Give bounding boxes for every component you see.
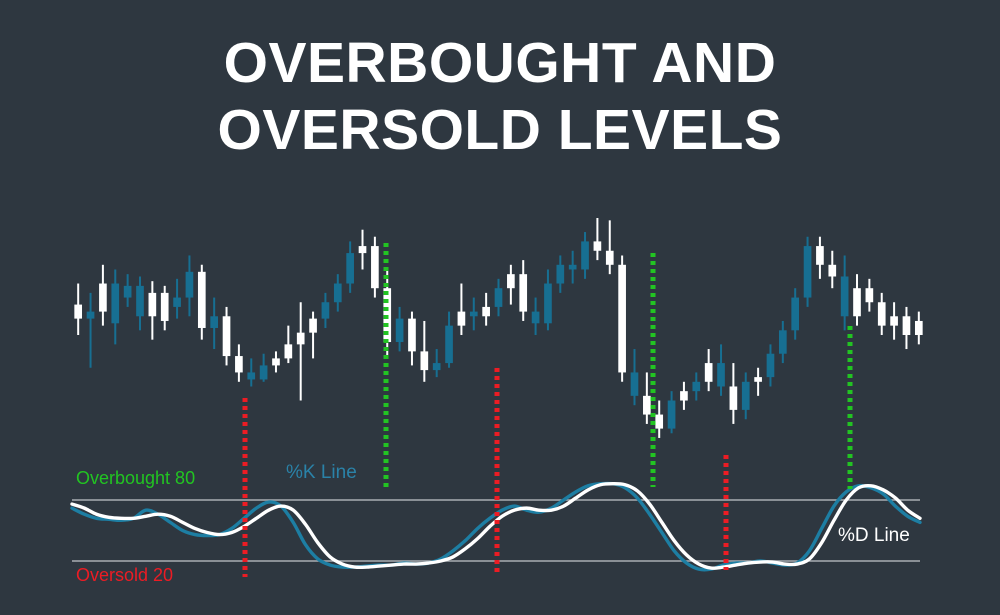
- candle-body: [247, 372, 255, 379]
- candle-body: [717, 363, 725, 386]
- candle-body: [556, 265, 564, 284]
- infographic-canvas: OVERBOUGHT AND OVERSOLD LEVELS Overbough…: [0, 0, 1000, 615]
- candle-body: [791, 298, 799, 331]
- candle-body: [396, 319, 404, 342]
- candle-body: [346, 253, 354, 283]
- candle-body: [816, 246, 824, 265]
- candle-body: [853, 288, 861, 316]
- candle-body: [767, 354, 775, 377]
- candle-body: [692, 382, 700, 391]
- candle-body: [111, 284, 119, 324]
- candle-body: [309, 319, 317, 333]
- stochastic-chart: [0, 0, 1000, 615]
- candle-body: [804, 246, 812, 297]
- k-line-label: %K Line: [286, 462, 357, 484]
- candle-body: [915, 321, 923, 335]
- candle-body: [99, 284, 107, 312]
- candle-body: [272, 358, 280, 365]
- candle-body: [569, 265, 577, 270]
- candle-body: [544, 284, 552, 324]
- candle-body: [408, 319, 416, 352]
- candle-body: [841, 277, 849, 317]
- candle-body: [890, 316, 898, 325]
- candle-body: [779, 330, 787, 353]
- candle-body: [223, 316, 231, 356]
- candle-body: [359, 246, 367, 253]
- candle-body: [87, 312, 95, 319]
- candle-body: [470, 312, 478, 317]
- candle-body: [445, 326, 453, 363]
- candle-body: [618, 265, 626, 373]
- candle-body: [606, 251, 614, 265]
- candle-body: [742, 382, 750, 410]
- candle-body: [297, 333, 305, 345]
- candle-body: [866, 288, 874, 302]
- candle-body: [519, 274, 527, 311]
- candle-body: [730, 386, 738, 409]
- candle-body: [458, 312, 466, 326]
- candle-body: [420, 351, 428, 370]
- candle-body: [643, 396, 651, 415]
- candle-body: [186, 272, 194, 298]
- oversold-level-label: Oversold 20: [76, 565, 173, 586]
- candle-body: [482, 307, 490, 316]
- candle-body: [433, 363, 441, 370]
- candle-body: [754, 377, 762, 382]
- candle-body: [198, 272, 206, 328]
- candle-body: [668, 401, 676, 429]
- candle-body: [334, 284, 342, 303]
- candle-body: [74, 305, 82, 319]
- candle-body: [136, 286, 144, 316]
- candle-body: [705, 363, 713, 382]
- candle-body: [322, 302, 330, 318]
- candle-body: [655, 415, 663, 429]
- d-line-label: %D Line: [838, 525, 910, 547]
- candle-body: [532, 312, 540, 324]
- candle-body: [903, 316, 911, 335]
- overbought-level-label: Overbought 80: [76, 468, 195, 489]
- candle-body: [631, 372, 639, 395]
- candle-body: [495, 288, 503, 307]
- candle-body: [507, 274, 515, 288]
- candle-body: [878, 302, 886, 325]
- candle-body: [149, 293, 157, 316]
- candle-body: [371, 246, 379, 288]
- candle-body: [581, 241, 589, 269]
- candlestick-series: [74, 218, 922, 438]
- candle-body: [680, 391, 688, 400]
- candle-body: [210, 316, 218, 328]
- candle-body: [594, 241, 602, 250]
- candle-body: [235, 356, 243, 372]
- candle-body: [124, 286, 132, 298]
- candle-body: [285, 344, 293, 358]
- candle-body: [173, 298, 181, 307]
- candle-body: [260, 365, 268, 379]
- candle-body: [828, 265, 836, 277]
- candle-body: [161, 293, 169, 321]
